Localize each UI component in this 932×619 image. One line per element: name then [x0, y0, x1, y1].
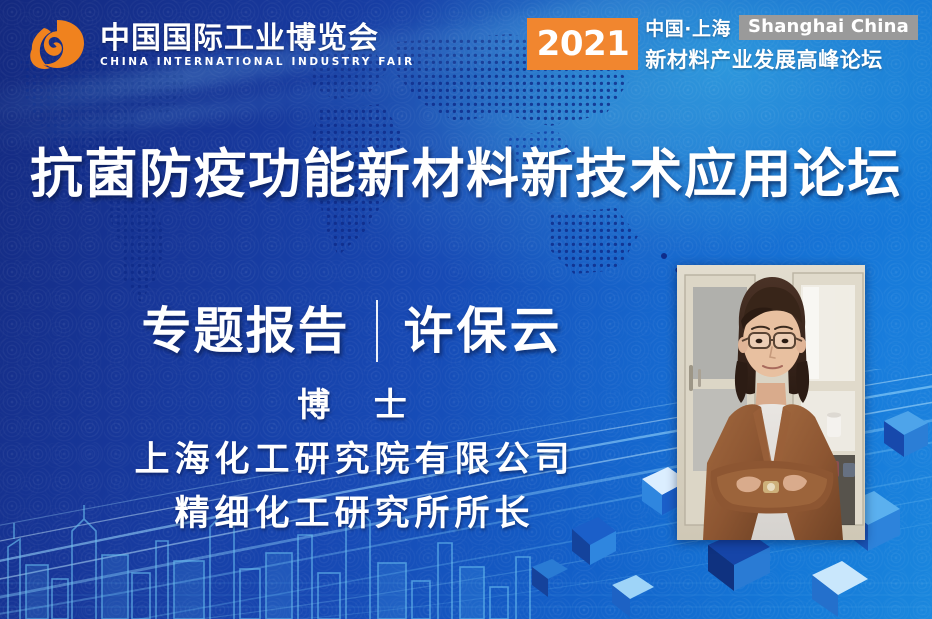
speaker-credentials: 博 士 上海化工研究院有限公司 精细化工研究所所长	[52, 380, 652, 541]
ciif-butterfly-logo-icon	[26, 16, 88, 74]
forum-badge-block: 2021 中国·上海 Shanghai China 新材料产业发展高峰论坛	[527, 14, 918, 74]
badge-text-block: 中国·上海 Shanghai China 新材料产业发展高峰论坛	[645, 14, 918, 74]
speaker-role: 精细化工研究所所长	[52, 488, 652, 541]
speaker-organization: 上海化工研究院有限公司	[52, 434, 652, 487]
speaker-degree: 博 士	[52, 380, 652, 430]
speaker-topic-label: 专题报告	[142, 306, 376, 356]
ciif-logo-block: 中国国际工业博览会 CHINA INTERNATIONAL INDUSTRY F…	[26, 16, 415, 74]
badge-forum-title: 新材料产业发展高峰论坛	[645, 44, 918, 74]
badge-city-english: Shanghai China	[739, 15, 918, 40]
badge-row-city: 中国·上海 Shanghai China	[645, 14, 918, 41]
forum-main-title: 抗菌防疫功能新材料新技术应用论坛	[0, 146, 932, 204]
badge-city-chinese: 中国·上海	[645, 14, 731, 41]
ciif-logo-english: CHINA INTERNATIONAL INDUSTRY FAIR	[100, 57, 415, 68]
poster-canvas: 中国国际工业博览会 CHINA INTERNATIONAL INDUSTRY F…	[0, 0, 932, 619]
year-badge: 2021	[527, 18, 639, 70]
speaker-portrait-photo	[677, 265, 865, 540]
speaker-headline: 专题报告 许保云	[52, 300, 652, 362]
ciif-logo-chinese: 中国国际工业博览会	[100, 23, 415, 55]
speaker-block: 专题报告 许保云 博 士 上海化工研究院有限公司 精细化工研究所所长	[52, 300, 652, 541]
ciif-logo-wordmark: 中国国际工业博览会 CHINA INTERNATIONAL INDUSTRY F…	[100, 23, 415, 67]
poster-header: 中国国际工业博览会 CHINA INTERNATIONAL INDUSTRY F…	[0, 0, 932, 92]
speaker-name: 许保云	[378, 306, 563, 356]
